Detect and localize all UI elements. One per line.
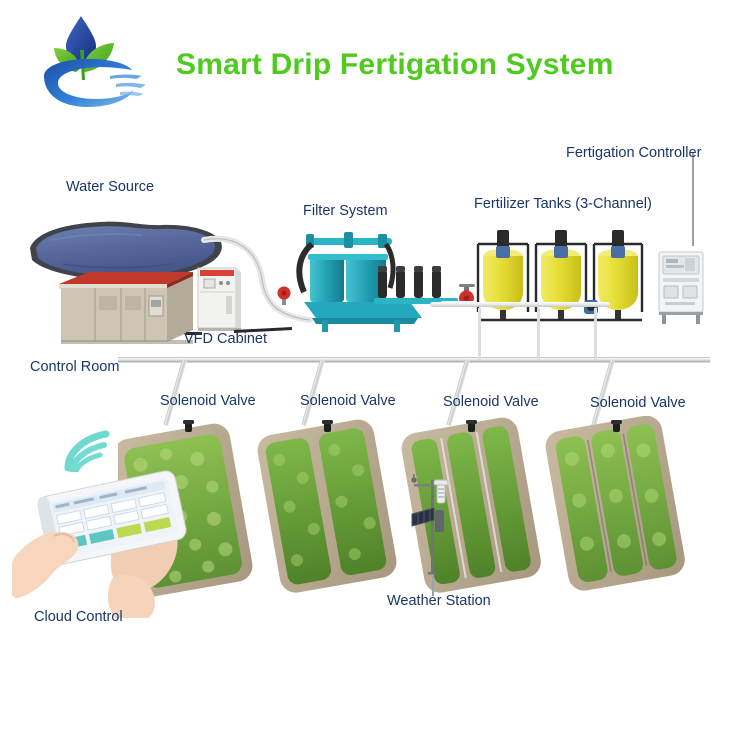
red-valve-icon — [274, 285, 294, 307]
tank-drop-pipe-3 — [594, 308, 597, 360]
label-solenoid-valve-1: Solenoid Valve — [160, 394, 256, 410]
solenoid-valve-icon-4 — [610, 418, 622, 434]
sand-filter-assembly — [282, 230, 460, 335]
solenoid-valve-icon-2 — [321, 418, 333, 434]
label-weather-station: Weather Station — [387, 594, 491, 610]
label-solenoid-valve-4: Solenoid Valve — [590, 396, 686, 412]
controller-leader-line — [692, 152, 694, 246]
label-solenoid-valve-2: Solenoid Valve — [300, 394, 396, 410]
label-fertigation-controller: Fertigation Controller — [566, 146, 701, 162]
tank-drop-pipe-1 — [478, 308, 481, 360]
solenoid-valve-icon-1 — [182, 418, 194, 434]
label-cloud-control: Cloud Control — [34, 610, 123, 626]
label-filter-system: Filter System — [303, 204, 388, 220]
label-fertilizer-tanks: Fertilizer Tanks (3-Channel) — [474, 197, 652, 213]
vfd-cabinet-unit — [196, 266, 242, 334]
weather-station-pole — [404, 466, 462, 576]
solenoid-valve-icon-3 — [465, 418, 477, 434]
label-water-source: Water Source — [66, 180, 154, 196]
control-room-building — [55, 266, 195, 346]
fertigation-controller-unit — [655, 248, 707, 326]
page-title: Smart Drip Fertigation System — [176, 48, 614, 82]
main-distribution-pipe — [118, 357, 710, 363]
label-vfd-cabinet: VFD Cabinet — [184, 332, 267, 348]
label-control-room: Control Room — [30, 360, 119, 376]
fertigation-system-diagram: Smart Drip Fertigation System — [0, 0, 730, 730]
three-yellow-fertilizer-tanks — [470, 226, 648, 338]
fertilizer-injection-line — [430, 302, 610, 307]
tank-drop-pipe-2 — [537, 308, 540, 360]
water-drop-leaf-logo — [24, 10, 154, 115]
label-solenoid-valve-3: Solenoid Valve — [443, 395, 539, 411]
smartphone-control-app[interactable] — [12, 448, 222, 618]
